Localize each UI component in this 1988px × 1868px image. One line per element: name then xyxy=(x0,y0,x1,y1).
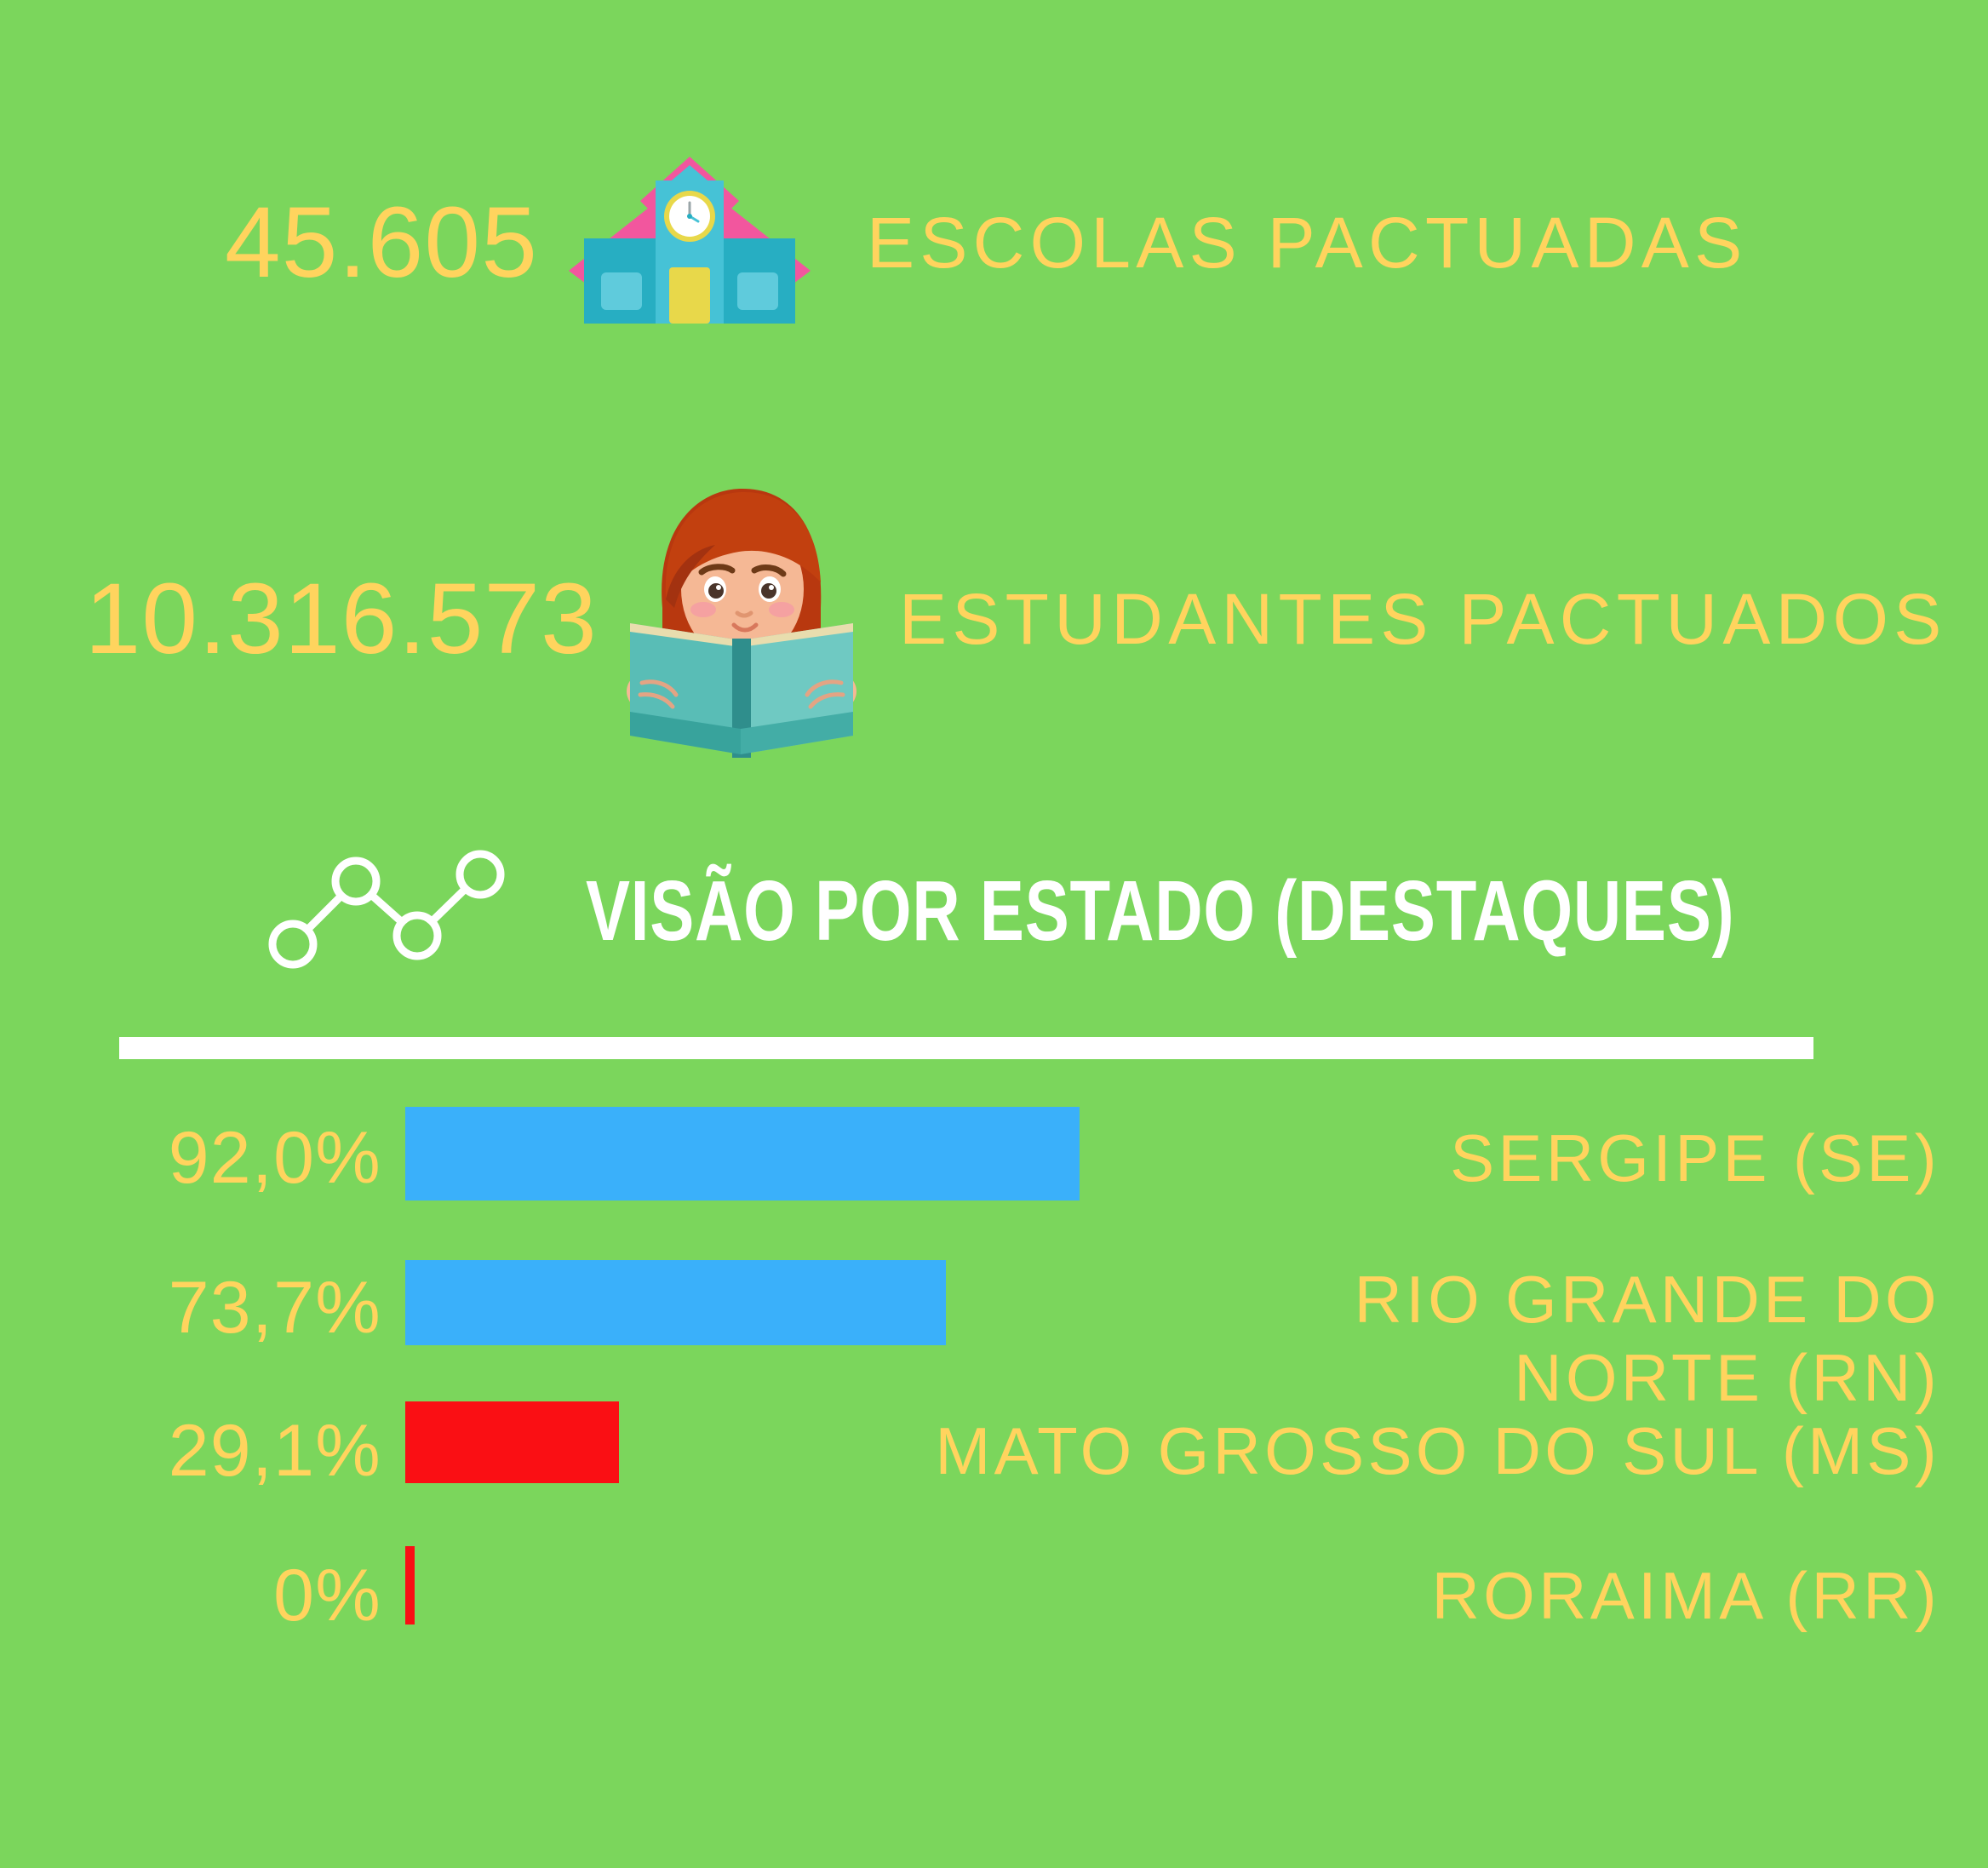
schools-label: ESCOLAS PACTUADAS xyxy=(867,202,1747,284)
school-icon xyxy=(562,145,817,341)
bar-value-label: 92,0% xyxy=(0,1117,381,1199)
bar-value-label: 0% xyxy=(0,1555,381,1636)
bar-fill xyxy=(405,1546,415,1624)
schools-count: 45.605 xyxy=(0,187,562,298)
table-row: 92,0% SERGIPE (SE) xyxy=(0,1098,1988,1248)
stat-row-students: 10.316.573 xyxy=(0,477,1988,761)
section-header: VISÃO POR ESTADO (DESTAQUES) xyxy=(264,839,1988,983)
line-chart-icon xyxy=(264,847,545,975)
students-label: ESTUDANTES PACTUADOS xyxy=(899,578,1947,660)
bar-value-label: 73,7% xyxy=(0,1267,381,1349)
bar-category-label: SERGIPE (SE) xyxy=(885,1117,1940,1199)
bar-category-label: RIO GRANDE DO NORTE (RN) xyxy=(1055,1260,1940,1417)
students-count: 10.316.573 xyxy=(0,564,613,674)
section-title: VISÃO POR ESTADO (DESTAQUES) xyxy=(586,864,1734,958)
bar-category-label: RORAIMA (RR) xyxy=(885,1555,1940,1636)
bar-category-label: MATO GROSSO DO SUL (MS) xyxy=(510,1410,1940,1492)
stat-row-schools: 45.605 xyxy=(0,145,1988,341)
girl-reading-book-icon xyxy=(613,480,868,761)
table-row: 73,7% RIO GRANDE DO NORTE (RN) xyxy=(0,1248,1988,1398)
table-row: 29,1% MATO GROSSO DO SUL (MS) xyxy=(0,1398,1988,1544)
bar-value-label: 29,1% xyxy=(0,1410,381,1492)
section-divider xyxy=(119,1037,1813,1059)
key-stats-block: 45.605 xyxy=(0,0,1988,707)
bar-fill xyxy=(405,1260,946,1345)
table-row: 0% RORAIMA (RR) xyxy=(0,1544,1988,1689)
state-bar-chart: 92,0% SERGIPE (SE) 73,7% RIO GRANDE DO N… xyxy=(0,1098,1988,1689)
